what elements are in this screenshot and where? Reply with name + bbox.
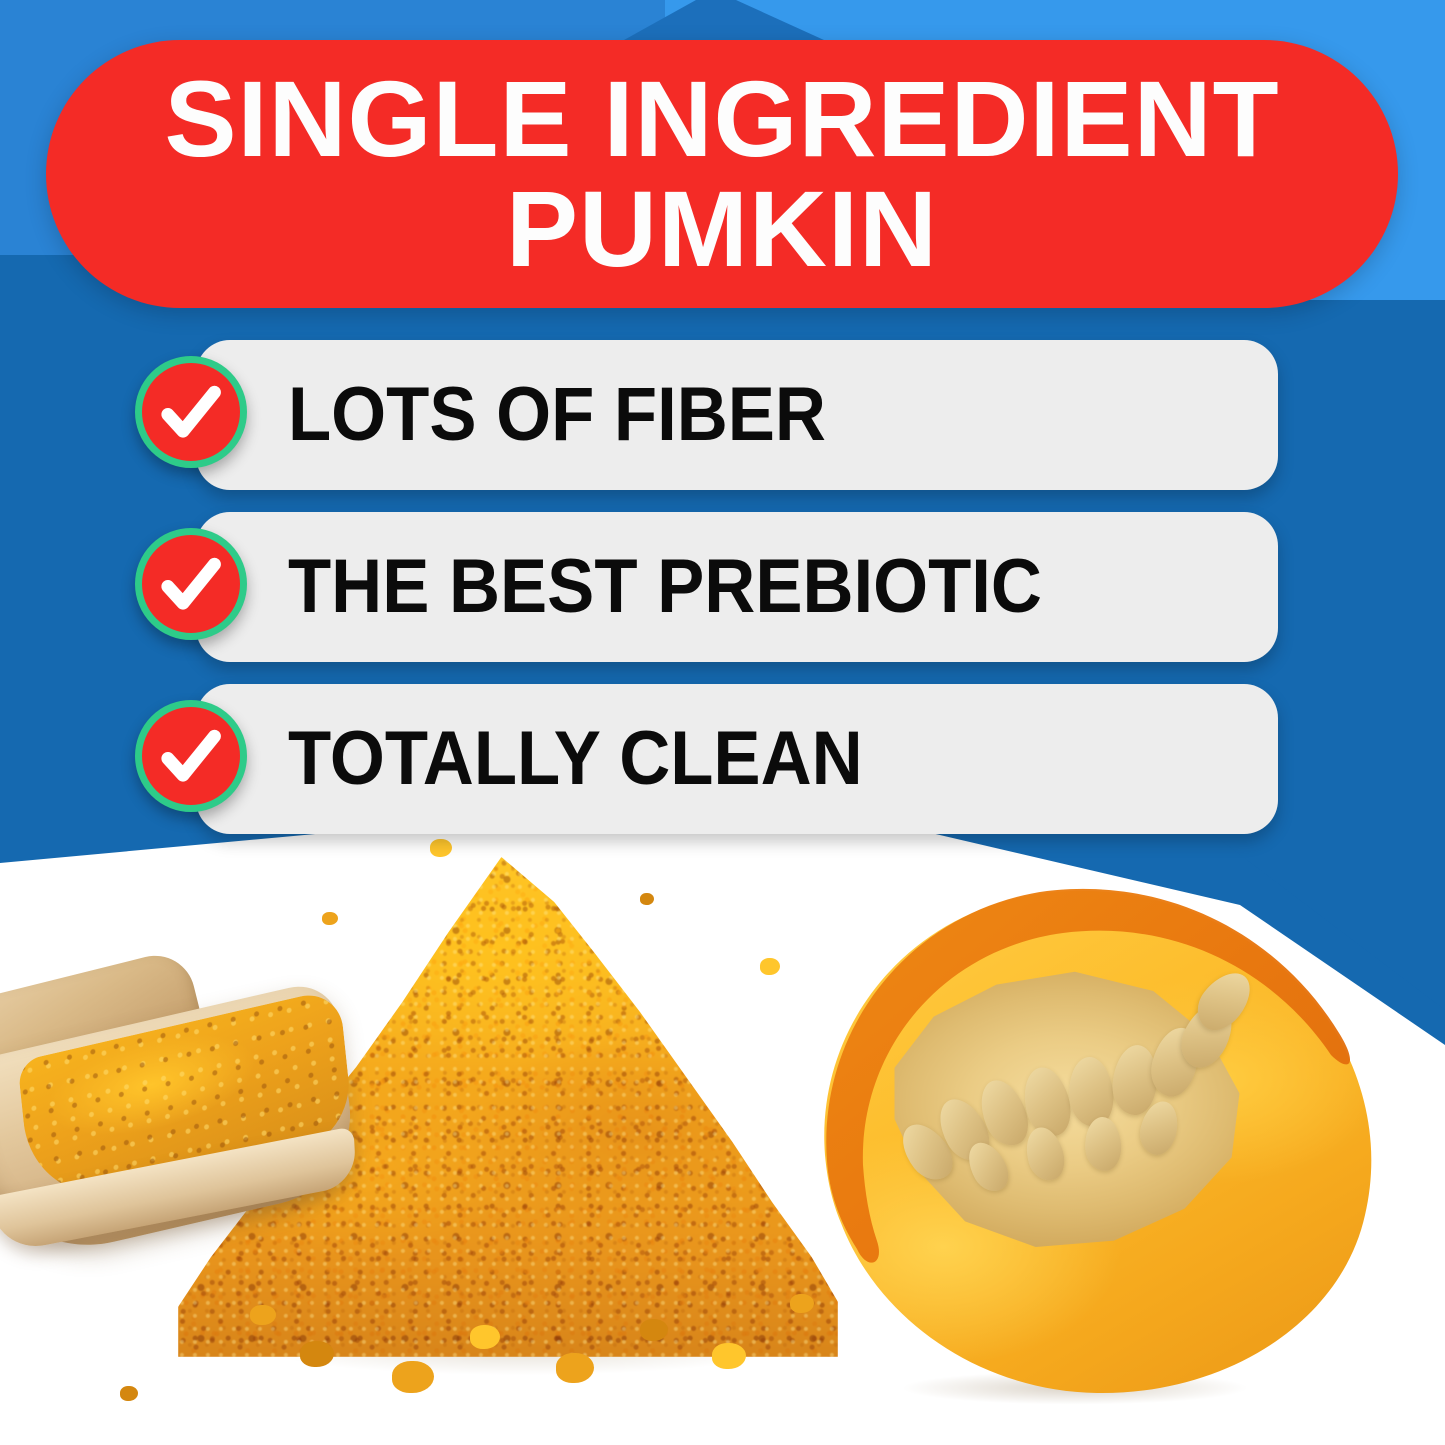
product-photo-composition — [0, 785, 1445, 1445]
product-infographic: SINGLE INGREDIENT PUMKIN LOTS OF FIBER T… — [0, 0, 1445, 1445]
powder-crumb — [322, 912, 338, 925]
pumpkin-seeds — [885, 971, 1245, 1251]
pumpkin-wedge — [745, 855, 1405, 1415]
benefit-pill-3: TOTALLY CLEAN — [196, 684, 1278, 834]
check-icon — [135, 700, 247, 812]
headline-banner: SINGLE INGREDIENT PUMKIN — [46, 40, 1398, 308]
benefit-row-3: TOTALLY CLEAN — [0, 684, 1445, 834]
benefit-pill-1: LOTS OF FIBER — [196, 340, 1278, 490]
benefit-pill-2: THE BEST PREBIOTIC — [196, 512, 1278, 662]
check-icon — [135, 356, 247, 468]
benefit-list: LOTS OF FIBER THE BEST PREBIOTIC TOTALLY… — [0, 340, 1445, 856]
headline-line-2: PUMKIN — [506, 174, 938, 284]
powder-crumb — [640, 893, 654, 905]
benefit-row-2: THE BEST PREBIOTIC — [0, 512, 1445, 662]
benefit-row-1: LOTS OF FIBER — [0, 340, 1445, 490]
powder-crumb — [392, 1361, 434, 1393]
benefit-label-3: TOTALLY CLEAN — [288, 721, 863, 797]
wooden-scoop — [0, 922, 426, 1297]
benefit-label-2: THE BEST PREBIOTIC — [288, 549, 1042, 625]
powder-crumb — [120, 1386, 138, 1401]
headline-line-1: SINGLE INGREDIENT — [164, 64, 1279, 174]
benefit-label-1: LOTS OF FIBER — [288, 377, 826, 453]
check-icon — [135, 528, 247, 640]
